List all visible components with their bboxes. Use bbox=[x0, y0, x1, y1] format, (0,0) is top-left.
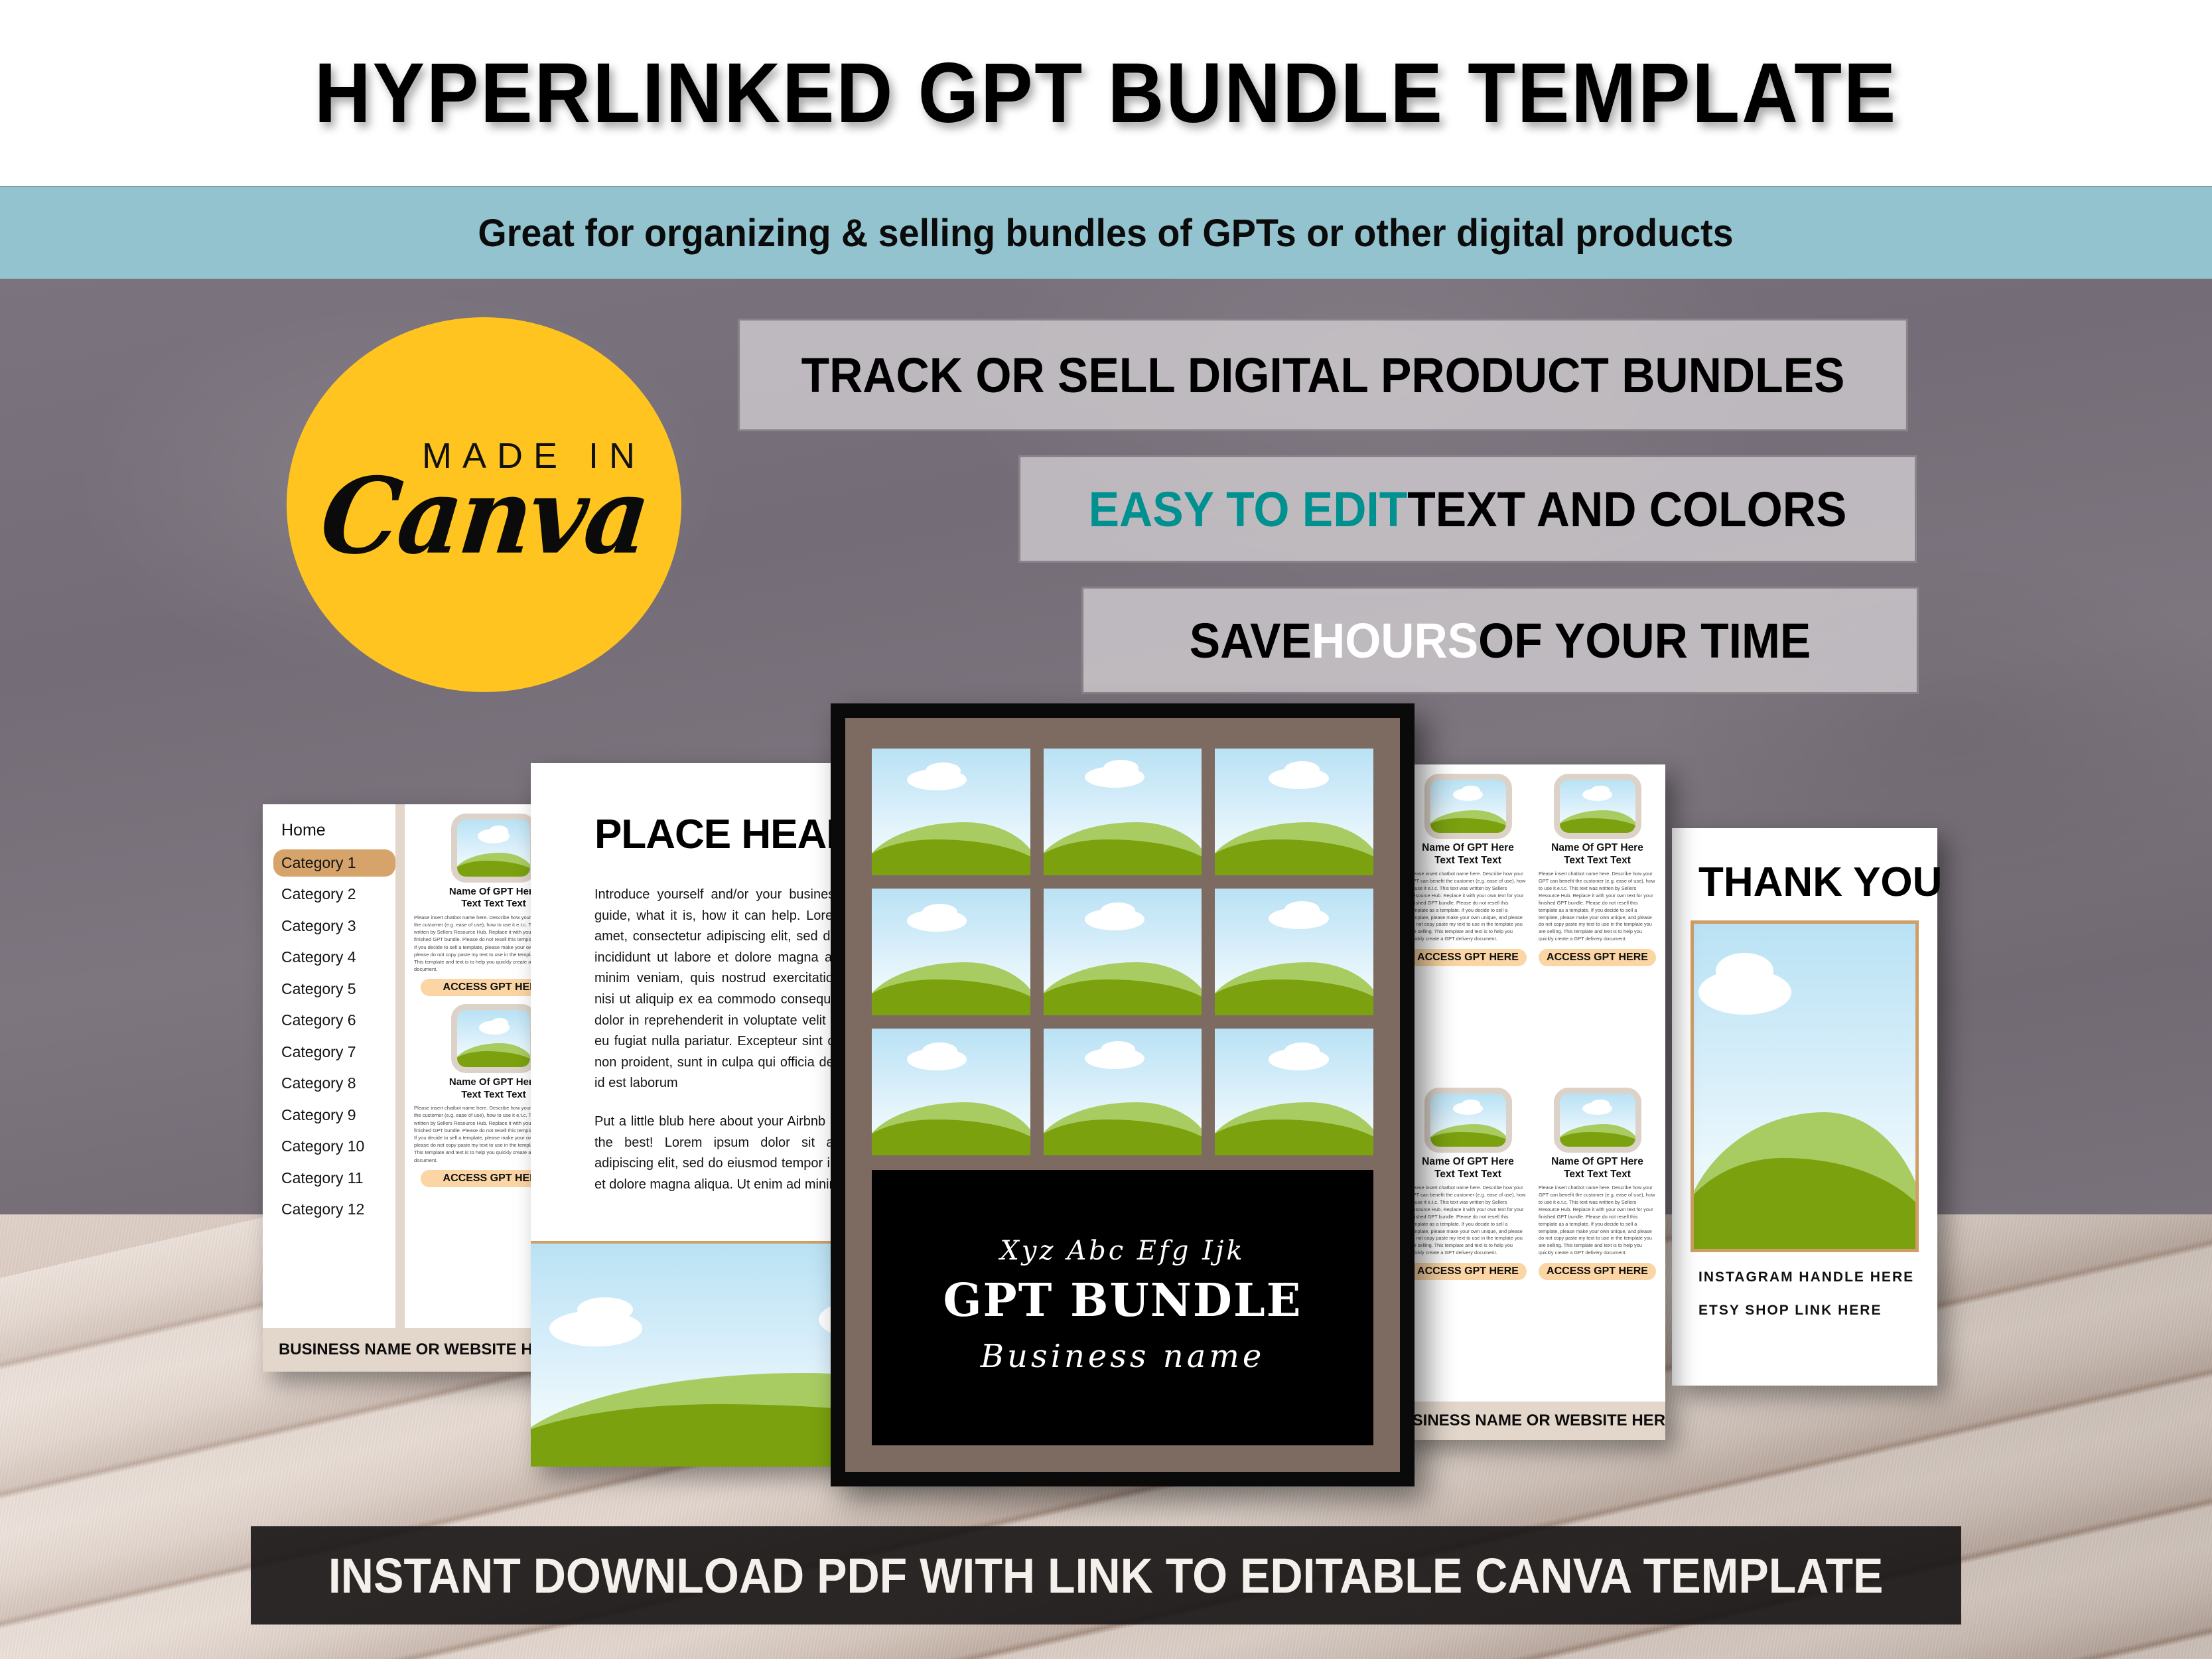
cloud-icon bbox=[1591, 1100, 1609, 1109]
landscape-illustration bbox=[1430, 1094, 1506, 1147]
gpt-card-body: Please insert chatbot name here. Describ… bbox=[1539, 871, 1656, 944]
gpt-title-line-1: Name Of GPT Here bbox=[1551, 1156, 1643, 1167]
sidebar-item-category-1[interactable]: Category 1 bbox=[273, 849, 395, 877]
feature-box-easy-to-edit: EASY TO EDIT TEXT AND COLORS bbox=[1018, 455, 1917, 563]
page-title: HYPERLINKED GPT BUNDLE TEMPLATE bbox=[314, 44, 1898, 142]
cloud-icon bbox=[1103, 760, 1139, 776]
sidebar-item-category-6[interactable]: Category 6 bbox=[273, 1007, 395, 1034]
landscape-illustration bbox=[872, 749, 1030, 875]
gpt-card-body: Please insert chatbot name here. Describ… bbox=[1409, 871, 1527, 944]
thank-you-title: THANK YOU bbox=[1672, 828, 1937, 906]
cloud-icon bbox=[922, 904, 957, 920]
gpt-card: Name Of GPT HereText Text Text Please in… bbox=[1539, 774, 1656, 1080]
sidebar-item-category-5[interactable]: Category 5 bbox=[273, 975, 395, 1003]
sidebar-item-category-8[interactable]: Category 8 bbox=[273, 1070, 395, 1097]
cloud-icon bbox=[1462, 786, 1480, 795]
gpt-title-line-2: Text Text Text bbox=[1564, 855, 1631, 866]
landscape-illustration bbox=[457, 1010, 530, 1067]
sidebar-divider bbox=[395, 804, 405, 1328]
cover-inner-frame: Xyz Abc Efg Ijk GPT BUNDLE Business name bbox=[845, 718, 1400, 1472]
page-footer-business-name: BUSINESS NAME OR WEBSITE HERE bbox=[1400, 1402, 1665, 1440]
sidebar-item-category-3[interactable]: Category 3 bbox=[273, 912, 395, 940]
title-banner: HYPERLINKED GPT BUNDLE TEMPLATE bbox=[0, 0, 2212, 186]
cloud-icon bbox=[926, 762, 961, 779]
sidebar-item-home[interactable]: Home bbox=[273, 816, 395, 845]
cloud-icon bbox=[1284, 901, 1320, 918]
mockup-page-thank-you: THANK YOU INSTAGRAM HANDLE HERE ETSY SHO… bbox=[1672, 828, 1937, 1386]
sidebar-item-category-11[interactable]: Category 11 bbox=[273, 1165, 395, 1192]
gpt-title-line-1: Name Of GPT Here bbox=[449, 1076, 538, 1088]
gpt-title-line-1: Name Of GPT Here bbox=[1551, 842, 1643, 853]
feature-label-2: TEXT AND COLORS bbox=[1407, 481, 1846, 538]
cover-title-block: Xyz Abc Efg Ijk GPT BUNDLE Business name bbox=[872, 1170, 1373, 1445]
cover-business-name: Business name bbox=[981, 1338, 1265, 1375]
sidebar-item-category-4[interactable]: Category 4 bbox=[273, 944, 395, 971]
gpt-card: Name Of GPT HereText Text Text Please in… bbox=[1409, 774, 1527, 1080]
gpt-title-line-1: Name Of GPT Here bbox=[1422, 842, 1514, 853]
made-in-canva-badge: MADE IN Canva bbox=[287, 317, 681, 692]
landscape-illustration bbox=[872, 889, 1030, 1015]
gpt-grid-body: Name Of GPT HereText Text Text Please in… bbox=[1400, 764, 1665, 1402]
landscape-illustration bbox=[1430, 780, 1506, 833]
gpt-card: Name Of GPT HereText Text Text Please in… bbox=[1409, 1088, 1527, 1394]
cloud-icon bbox=[1716, 953, 1773, 989]
gpt-card-title: Name Of GPT HereText Text Text bbox=[1409, 842, 1527, 867]
cta-text: INSTANT DOWNLOAD PDF WITH LINK TO EDITAB… bbox=[328, 1548, 1884, 1604]
sidebar-item-category-7[interactable]: Category 7 bbox=[273, 1039, 395, 1066]
cover-title: GPT BUNDLE bbox=[943, 1274, 1302, 1327]
sidebar-item-category-9[interactable]: Category 9 bbox=[273, 1102, 395, 1129]
landscape-illustration bbox=[1694, 924, 1915, 1249]
landscape-illustration bbox=[872, 1029, 1030, 1155]
landscape-illustration bbox=[1560, 780, 1635, 833]
subtitle-text: Great for organizing & selling bundles o… bbox=[478, 211, 1734, 255]
landscape-illustration bbox=[1044, 1029, 1202, 1155]
instagram-handle-line: INSTAGRAM HANDLE HERE bbox=[1672, 1269, 1937, 1285]
sidebar-item-category-10[interactable]: Category 10 bbox=[273, 1133, 395, 1160]
access-gpt-button[interactable]: ACCESS GPT HERE bbox=[1539, 949, 1656, 966]
access-gpt-button[interactable]: ACCESS GPT HERE bbox=[1539, 1263, 1656, 1280]
landscape-illustration bbox=[1560, 1094, 1635, 1147]
landscape-illustration bbox=[1044, 889, 1202, 1015]
category-nav: Home Category 1 Category 2 Category 3 Ca… bbox=[263, 804, 395, 1328]
gpt-title-line-2: Text Text Text bbox=[1564, 1169, 1631, 1180]
cover-thumbnail-grid bbox=[872, 749, 1373, 1155]
gpt-thumbnail bbox=[451, 1004, 536, 1073]
gpt-title-line-1: Name Of GPT Here bbox=[449, 886, 538, 897]
gpt-card-title: Name Of GPT HereText Text Text bbox=[1539, 842, 1656, 867]
gpt-thumbnail bbox=[1554, 774, 1641, 839]
access-gpt-button[interactable]: ACCESS GPT HERE bbox=[1409, 949, 1527, 966]
etsy-shop-link-line: ETSY SHOP LINK HERE bbox=[1672, 1303, 1937, 1319]
cloud-icon bbox=[1591, 786, 1609, 795]
landscape-illustration bbox=[1215, 749, 1373, 875]
gpt-thumbnail bbox=[451, 814, 536, 883]
cover-subtitle: Xyz Abc Efg Ijk bbox=[1000, 1236, 1245, 1266]
cloud-icon bbox=[1284, 1043, 1320, 1059]
gpt-title-line-1: Name Of GPT Here bbox=[1422, 1156, 1514, 1167]
cloud-icon bbox=[1101, 902, 1136, 919]
feature-accent-2: EASY TO EDIT bbox=[1089, 481, 1408, 538]
landscape-illustration bbox=[1215, 1029, 1373, 1155]
cloud-icon bbox=[1284, 761, 1320, 778]
cloud-icon bbox=[577, 1297, 633, 1322]
landscape-illustration bbox=[1044, 749, 1202, 875]
gpt-title-line-2: Text Text Text bbox=[1434, 855, 1501, 866]
cta-banner: INSTANT DOWNLOAD PDF WITH LINK TO EDITAB… bbox=[251, 1526, 1961, 1624]
gpt-title-line-2: Text Text Text bbox=[461, 898, 526, 909]
feature-pre-3: SAVE bbox=[1190, 613, 1312, 669]
gpt-card: Name Of GPT HereText Text Text Please in… bbox=[1539, 1088, 1656, 1394]
gpt-title-line-2: Text Text Text bbox=[461, 1089, 526, 1100]
badge-canva-wordmark: Canva bbox=[315, 455, 653, 577]
gpt-card-title: Name Of GPT HereText Text Text bbox=[1539, 1156, 1656, 1181]
cloud-icon bbox=[1101, 1041, 1136, 1058]
cloud-icon bbox=[489, 826, 508, 837]
feature-label-3: OF YOUR TIME bbox=[1478, 613, 1811, 669]
cloud-icon bbox=[922, 1043, 957, 1059]
subtitle-banner: Great for organizing & selling bundles o… bbox=[0, 186, 2212, 279]
mockup-page-gpt-grid: Name Of GPT HereText Text Text Please in… bbox=[1400, 764, 1665, 1440]
gpt-thumbnail bbox=[1424, 1088, 1512, 1153]
gpt-card-title: Name Of GPT HereText Text Text bbox=[1409, 1156, 1527, 1181]
gpt-thumbnail bbox=[1424, 774, 1512, 839]
landscape-illustration bbox=[1215, 889, 1373, 1015]
access-gpt-button[interactable]: ACCESS GPT HERE bbox=[1409, 1263, 1527, 1280]
feature-accent-3: HOURS bbox=[1312, 613, 1478, 669]
feature-box-save-hours: SAVE HOURS OF YOUR TIME bbox=[1081, 587, 1918, 694]
gpt-thumbnail bbox=[1554, 1088, 1641, 1153]
cloud-icon bbox=[491, 1018, 508, 1029]
gpt-title-line-2: Text Text Text bbox=[1434, 1169, 1501, 1180]
feature-box-track-or-sell: TRACK OR SELL DIGITAL PRODUCT BUNDLES bbox=[738, 319, 1907, 431]
sidebar-item-category-2[interactable]: Category 2 bbox=[273, 881, 395, 908]
landscape-illustration bbox=[457, 820, 530, 877]
cloud-icon bbox=[1462, 1100, 1480, 1109]
gpt-card-body: Please insert chatbot name here. Describ… bbox=[1539, 1185, 1656, 1258]
sidebar-item-category-12[interactable]: Category 12 bbox=[273, 1196, 395, 1223]
mockup-page-cover: Xyz Abc Efg Ijk GPT BUNDLE Business name bbox=[831, 703, 1415, 1486]
thank-you-artwork bbox=[1691, 920, 1919, 1252]
gpt-card-body: Please insert chatbot name here. Describ… bbox=[1409, 1185, 1527, 1258]
feature-label-1: TRACK OR SELL DIGITAL PRODUCT BUNDLES bbox=[801, 347, 1845, 403]
